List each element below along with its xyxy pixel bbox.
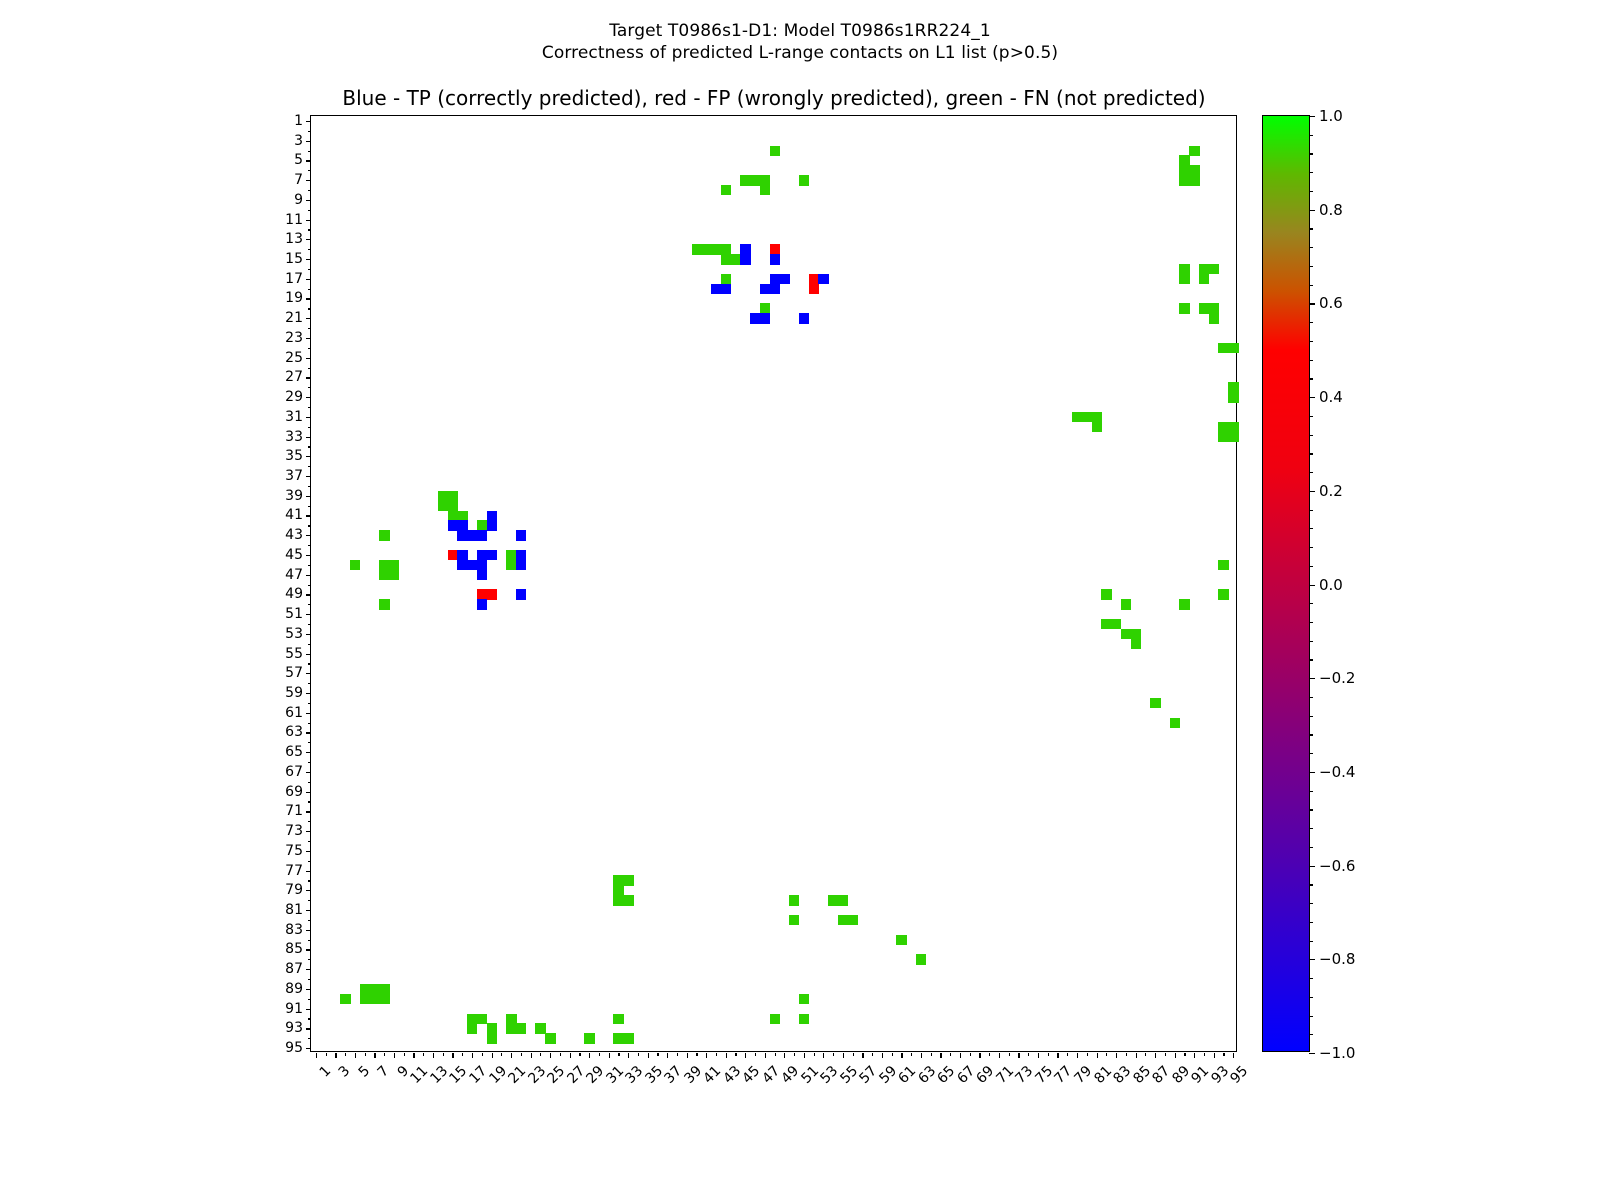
fn-cell	[379, 994, 389, 1004]
x-axis-tick	[316, 1053, 317, 1058]
y-axis-tick	[306, 437, 311, 438]
x-axis-tick	[1116, 1053, 1117, 1058]
x-axis-tick	[716, 1053, 717, 1056]
colorbar-tick-label: −0.4	[1319, 763, 1355, 781]
y-axis-label: 83	[285, 922, 303, 938]
fn-cell	[1131, 639, 1141, 649]
x-axis-tick	[589, 1053, 590, 1058]
fn-cell	[613, 1014, 623, 1024]
colorbar-minor-tick	[1309, 228, 1313, 229]
y-axis-label: 1	[294, 113, 303, 129]
x-axis-tick	[677, 1053, 678, 1056]
y-axis-tick	[306, 752, 311, 753]
y-axis-label: 13	[285, 231, 303, 247]
colorbar-minor-tick	[1309, 453, 1313, 454]
x-axis-tick	[1106, 1053, 1107, 1056]
colorbar-minor-tick	[1309, 491, 1313, 492]
x-axis-tick	[326, 1053, 327, 1056]
y-axis-tick	[306, 456, 311, 457]
fn-cell	[1218, 560, 1228, 570]
fn-cell	[1228, 432, 1238, 442]
colorbar-minor-tick	[1309, 791, 1313, 792]
y-axis-tick	[306, 141, 311, 142]
y-axis-label: 89	[285, 981, 303, 997]
tp-cell	[477, 570, 487, 580]
y-axis-tick	[306, 949, 311, 950]
fn-cell	[1150, 698, 1160, 708]
y-axis-tick	[308, 644, 311, 645]
y-axis-tick	[306, 890, 311, 891]
fn-cell	[1179, 303, 1189, 313]
fn-cell	[1228, 392, 1238, 402]
fn-cell	[770, 146, 780, 156]
fn-cell	[721, 274, 731, 284]
fn-cell	[350, 560, 360, 570]
x-axis-tick	[1126, 1053, 1127, 1056]
x-axis-tick	[521, 1053, 522, 1056]
colorbar-tick-label: 0.8	[1319, 201, 1343, 219]
colorbar-minor-tick	[1309, 247, 1313, 248]
x-axis-tick	[921, 1053, 922, 1058]
fn-cell	[1199, 274, 1209, 284]
y-axis-tick	[306, 871, 311, 872]
fn-cell	[516, 1023, 526, 1033]
fn-cell	[1101, 589, 1111, 599]
colorbar-minor-tick	[1309, 772, 1313, 773]
y-axis-tick	[306, 772, 311, 773]
x-axis-tick	[687, 1053, 688, 1058]
y-axis-label: 57	[285, 665, 303, 681]
y-axis-tick	[306, 1028, 311, 1029]
x-axis-tick	[511, 1053, 512, 1058]
x-axis-tick	[1155, 1053, 1156, 1058]
x-axis-tick	[1048, 1053, 1049, 1056]
y-axis-tick	[308, 762, 311, 763]
y-axis-tick	[308, 407, 311, 408]
x-axis-label: 95	[1228, 1063, 1252, 1087]
colorbar-minor-tick	[1309, 847, 1313, 848]
x-axis-tick	[413, 1053, 414, 1058]
tp-cell	[760, 313, 770, 323]
colorbar-minor-tick	[1309, 753, 1313, 754]
x-axis-tick	[833, 1053, 834, 1056]
fn-cell	[1218, 589, 1228, 599]
fn-cell	[623, 875, 633, 885]
y-axis-label: 67	[285, 764, 303, 780]
fn-cell	[1179, 599, 1189, 609]
y-axis-tick	[306, 220, 311, 221]
y-axis-tick	[308, 999, 311, 1000]
x-axis-label: 1	[317, 1063, 335, 1081]
fn-cell	[896, 935, 906, 945]
y-axis-tick	[308, 506, 311, 507]
x-axis-tick	[843, 1053, 844, 1058]
x-axis-tick	[628, 1053, 629, 1058]
fn-cell	[389, 570, 399, 580]
fn-cell	[487, 1033, 497, 1043]
fn-cell	[799, 175, 809, 185]
colorbar-minor-tick	[1309, 153, 1313, 154]
y-axis-tick	[308, 920, 311, 921]
y-axis-tick	[306, 989, 311, 990]
colorbar-tick-label: −0.6	[1319, 857, 1355, 875]
x-axis-tick	[823, 1053, 824, 1058]
fn-cell	[1209, 264, 1219, 274]
colorbar-minor-tick	[1309, 941, 1313, 942]
fn-cell	[613, 885, 623, 895]
x-axis-tick	[1223, 1053, 1224, 1056]
y-axis-tick	[306, 831, 311, 832]
colorbar-minor-tick	[1309, 510, 1313, 511]
colorbar-tick-label: −1.0	[1319, 1044, 1355, 1062]
fn-cell	[760, 185, 770, 195]
fn-cell	[379, 530, 389, 540]
colorbar-tick-label: −0.8	[1319, 950, 1355, 968]
y-axis-tick	[308, 604, 311, 605]
x-axis-tick	[784, 1053, 785, 1058]
y-axis-tick	[306, 594, 311, 595]
colorbar-minor-tick	[1309, 1016, 1313, 1017]
fn-cell	[799, 994, 809, 1004]
x-axis-tick	[775, 1053, 776, 1056]
x-axis-tick	[1214, 1053, 1215, 1058]
fn-cell	[789, 915, 799, 925]
y-axis-tick	[306, 792, 311, 793]
y-axis-tick	[308, 1018, 311, 1019]
y-axis-label: 5	[294, 152, 303, 168]
y-axis-tick	[308, 959, 311, 960]
y-axis-tick	[308, 289, 311, 290]
y-axis-tick	[308, 229, 311, 230]
x-axis-tick	[599, 1053, 600, 1056]
colorbar-minor-tick	[1309, 716, 1313, 717]
y-axis-tick	[308, 446, 311, 447]
x-axis-tick	[443, 1053, 444, 1056]
y-axis-label: 27	[285, 369, 303, 385]
y-axis-tick	[306, 851, 311, 852]
y-axis-tick	[306, 614, 311, 615]
y-axis-label: 93	[285, 1020, 303, 1036]
y-axis-tick	[306, 239, 311, 240]
y-axis-tick	[308, 328, 311, 329]
y-axis-tick	[306, 693, 311, 694]
x-axis-tick	[1077, 1053, 1078, 1058]
colorbar-minor-tick	[1309, 978, 1313, 979]
figure-suptitle: Target T0986s1-D1: Model T0986s1RR224_1 …	[0, 20, 1600, 64]
y-axis-label: 79	[285, 882, 303, 898]
x-axis-tick	[804, 1053, 805, 1058]
x-axis-tick	[989, 1053, 990, 1056]
y-axis-label: 81	[285, 902, 303, 918]
colorbar-minor-tick	[1309, 641, 1313, 642]
y-axis-tick	[308, 801, 311, 802]
y-axis-tick	[306, 338, 311, 339]
tp-cell	[779, 274, 789, 284]
y-axis-tick	[306, 811, 311, 812]
y-axis-tick	[308, 170, 311, 171]
y-axis-tick	[308, 368, 311, 369]
y-axis-label: 17	[285, 271, 303, 287]
y-axis-label: 35	[285, 448, 303, 464]
x-axis-tick	[892, 1053, 893, 1056]
y-axis-label: 3	[294, 133, 303, 149]
y-axis-label: 71	[285, 803, 303, 819]
y-axis-tick	[308, 190, 311, 191]
colorbar-minor-tick	[1309, 828, 1313, 829]
colorbar-tick-label: 0.2	[1319, 482, 1343, 500]
y-axis-tick	[308, 486, 311, 487]
fn-cell	[838, 895, 848, 905]
x-axis-tick	[472, 1053, 473, 1058]
y-axis-label: 29	[285, 389, 303, 405]
x-axis-tick	[570, 1053, 571, 1058]
tp-cell	[721, 284, 731, 294]
y-axis-label: 63	[285, 724, 303, 740]
tp-cell	[516, 589, 526, 599]
y-axis-label: 59	[285, 685, 303, 701]
colorbar-minor-tick	[1309, 1034, 1313, 1035]
x-axis-tick	[862, 1053, 863, 1058]
x-axis-tick	[560, 1053, 561, 1056]
x-axis-tick	[482, 1053, 483, 1056]
y-axis-label: 65	[285, 744, 303, 760]
y-axis-tick	[306, 654, 311, 655]
y-axis-tick	[308, 1038, 311, 1039]
fn-cell	[1121, 599, 1131, 609]
x-axis-tick	[794, 1053, 795, 1056]
y-axis-label: 55	[285, 646, 303, 662]
x-axis-tick	[531, 1053, 532, 1058]
tp-cell	[487, 550, 497, 560]
y-axis-tick	[308, 841, 311, 842]
x-axis-tick	[872, 1053, 873, 1056]
y-axis-label: 85	[285, 941, 303, 957]
y-axis-label: 7	[294, 172, 303, 188]
y-axis-tick	[308, 723, 311, 724]
colorbar-minor-tick	[1309, 266, 1313, 267]
tp-cell	[770, 254, 780, 264]
colorbar-minor-tick	[1309, 622, 1313, 623]
x-axis-tick	[940, 1053, 941, 1058]
y-axis-tick	[306, 200, 311, 201]
x-axis-tick	[365, 1053, 366, 1056]
x-axis-tick	[384, 1053, 385, 1056]
y-axis-tick	[306, 298, 311, 299]
x-axis-tick	[638, 1053, 639, 1056]
y-axis-tick	[308, 387, 311, 388]
colorbar-minor-tick	[1309, 959, 1313, 960]
y-axis-tick	[306, 397, 311, 398]
y-axis-label: 75	[285, 843, 303, 859]
contact-map-plot[interactable]: 1133557799111113131515171719192121232325…	[310, 115, 1237, 1052]
y-axis-label: 31	[285, 409, 303, 425]
x-axis-tick	[492, 1053, 493, 1058]
x-axis-tick	[726, 1053, 727, 1058]
x-axis-tick	[901, 1053, 902, 1058]
colorbar-minor-tick	[1309, 903, 1313, 904]
colorbar-tick-label: 0.0	[1319, 576, 1343, 594]
y-axis-label: 23	[285, 330, 303, 346]
fn-cell	[545, 1033, 555, 1043]
y-axis-label: 11	[285, 212, 303, 228]
y-axis-tick	[308, 308, 311, 309]
colorbar-minor-tick	[1309, 210, 1313, 211]
tp-cell	[818, 274, 828, 284]
y-axis-label: 51	[285, 606, 303, 622]
contact-map-cells	[311, 116, 1236, 1051]
colorbar-minor-tick	[1309, 866, 1313, 867]
x-axis-tick	[1175, 1053, 1176, 1058]
x-axis-tick	[960, 1053, 961, 1058]
x-axis-tick	[1057, 1053, 1058, 1058]
tp-cell	[770, 284, 780, 294]
x-axis-tick	[1028, 1053, 1029, 1056]
fn-cell	[1179, 274, 1189, 284]
y-axis-tick	[308, 979, 311, 980]
colorbar-tick	[1309, 585, 1315, 586]
x-axis-tick	[755, 1053, 756, 1056]
colorbar-tick-label: 0.6	[1319, 294, 1343, 312]
y-axis-tick	[306, 1048, 311, 1049]
x-axis-tick	[335, 1053, 336, 1058]
x-axis-label: 3	[336, 1063, 354, 1081]
colorbar-minor-tick	[1309, 997, 1313, 998]
colorbar-minor-tick	[1309, 416, 1313, 417]
colorbar-minor-tick	[1309, 303, 1313, 304]
y-axis-tick	[306, 318, 311, 319]
x-axis-tick	[1009, 1053, 1010, 1056]
x-axis-tick	[696, 1053, 697, 1056]
y-axis-label: 53	[285, 626, 303, 642]
tp-cell	[487, 520, 497, 530]
x-axis-tick	[345, 1053, 346, 1056]
tp-cell	[457, 520, 467, 530]
colorbar-ticks: 1.00.80.60.40.20.0−0.2−0.4−0.6−0.8−1.0	[1263, 116, 1309, 1051]
y-axis-label: 21	[285, 310, 303, 326]
tp-cell	[516, 530, 526, 540]
colorbar: 1.00.80.60.40.20.0−0.2−0.4−0.6−0.8−1.0	[1262, 115, 1310, 1052]
fn-cell	[848, 915, 858, 925]
x-axis-tick	[404, 1053, 405, 1056]
colorbar-minor-tick	[1309, 922, 1313, 923]
x-axis-tick	[501, 1053, 502, 1056]
y-axis-tick	[308, 940, 311, 941]
x-axis-tick	[462, 1053, 463, 1056]
y-axis-tick	[308, 210, 311, 211]
colorbar-minor-tick	[1309, 435, 1313, 436]
fn-cell	[379, 599, 389, 609]
x-axis-tick	[433, 1053, 434, 1058]
y-axis-label: 69	[285, 784, 303, 800]
y-axis-tick	[308, 880, 311, 881]
tp-cell	[516, 560, 526, 570]
y-axis-label: 47	[285, 567, 303, 583]
x-axis-tick	[765, 1053, 766, 1058]
x-axis-tick	[540, 1053, 541, 1056]
y-axis-tick	[306, 476, 311, 477]
colorbar-minor-tick	[1309, 285, 1313, 286]
y-axis-label: 61	[285, 705, 303, 721]
y-axis-tick	[306, 535, 311, 536]
x-axis-tick	[648, 1053, 649, 1058]
y-axis-tick	[306, 180, 311, 181]
y-axis-label: 95	[285, 1040, 303, 1056]
y-axis-tick	[306, 515, 311, 516]
colorbar-tick-label: 0.4	[1319, 388, 1343, 406]
x-axis-tick	[1194, 1053, 1195, 1058]
colorbar-tick-label: 1.0	[1319, 107, 1343, 125]
y-axis-label: 91	[285, 1001, 303, 1017]
x-axis-tick	[706, 1053, 707, 1058]
y-axis-tick	[306, 417, 311, 418]
colorbar-minor-tick	[1309, 697, 1313, 698]
fn-cell	[721, 185, 731, 195]
fn-cell	[1092, 422, 1102, 432]
colorbar-tick	[1309, 1053, 1315, 1054]
x-axis-tick	[911, 1053, 912, 1056]
colorbar-minor-tick	[1309, 172, 1313, 173]
y-axis-label: 15	[285, 251, 303, 267]
x-axis-tick	[1067, 1053, 1068, 1056]
y-axis-tick	[306, 969, 311, 970]
x-axis-tick	[970, 1053, 971, 1056]
y-axis-tick	[308, 151, 311, 152]
x-axis-tick	[999, 1053, 1000, 1058]
x-axis-tick	[1145, 1053, 1146, 1056]
colorbar-minor-tick	[1309, 472, 1313, 473]
fn-cell	[623, 1033, 633, 1043]
x-axis-tick	[814, 1053, 815, 1056]
x-axis-tick	[618, 1053, 619, 1056]
y-axis-tick	[306, 673, 311, 674]
y-axis-label: 43	[285, 527, 303, 543]
y-axis-label: 33	[285, 429, 303, 445]
y-axis-label: 19	[285, 290, 303, 306]
y-axis-tick	[308, 249, 311, 250]
x-axis-tick	[1233, 1053, 1234, 1058]
fp-cell	[487, 589, 497, 599]
y-axis-label: 45	[285, 547, 303, 563]
x-axis-tick	[1184, 1053, 1185, 1056]
y-axis-tick	[306, 713, 311, 714]
x-axis-tick	[979, 1053, 980, 1058]
y-axis-tick	[308, 900, 311, 901]
fn-cell	[1209, 313, 1219, 323]
colorbar-minor-tick	[1309, 884, 1313, 885]
fn-cell	[789, 895, 799, 905]
fn-cell	[623, 895, 633, 905]
colorbar-minor-tick	[1309, 360, 1313, 361]
x-axis-label: 7	[375, 1063, 393, 1081]
y-axis-tick	[308, 565, 311, 566]
x-axis-label: 5	[356, 1063, 374, 1081]
y-axis-tick	[308, 624, 311, 625]
y-axis-tick	[308, 348, 311, 349]
colorbar-minor-tick	[1309, 378, 1313, 379]
y-axis-tick	[306, 910, 311, 911]
tp-cell	[477, 599, 487, 609]
y-axis-tick	[306, 732, 311, 733]
x-axis-tick	[609, 1053, 610, 1058]
colorbar-minor-tick	[1309, 528, 1313, 529]
y-axis-tick	[306, 555, 311, 556]
fn-cell	[1189, 146, 1199, 156]
x-axis-tick	[1165, 1053, 1166, 1056]
x-axis-tick	[1018, 1053, 1019, 1058]
y-axis-tick	[306, 279, 311, 280]
x-axis-tick	[452, 1053, 453, 1058]
colorbar-minor-tick	[1309, 341, 1313, 342]
